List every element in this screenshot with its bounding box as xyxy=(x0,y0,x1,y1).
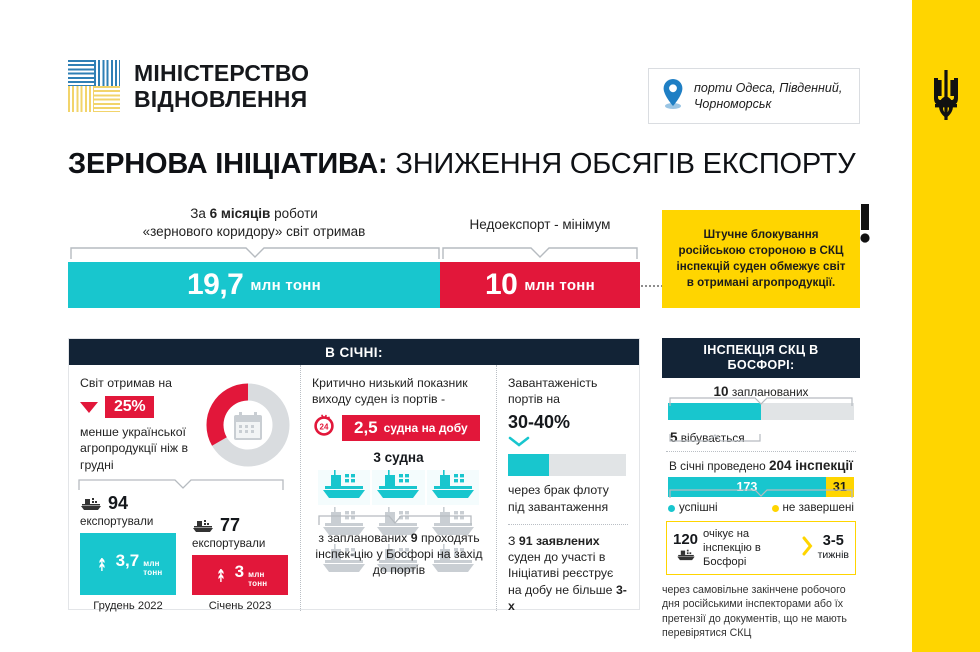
dec-month-label: Грудень 2022 xyxy=(80,600,176,612)
jan-ship-line: 77 xyxy=(192,515,288,536)
page-title: ЗЕРНОВА ІНІЦІАТИВА: ЗНИЖЕННЯ ОБСЯГІВ ЕКС… xyxy=(68,150,868,179)
rate-unit: судна на добу xyxy=(384,421,468,435)
footnote: через самовільне закінчене робочого дня … xyxy=(662,583,860,640)
ship-cell xyxy=(427,470,479,505)
month-block-january: 77 експортували 3 млнтонн Січень 2023 xyxy=(192,515,288,612)
clock-24-icon: 24 xyxy=(312,413,336,442)
ships-note-a: з запланованих xyxy=(318,531,410,545)
card-column-decline: Світ отримав на 25% менше української аг… xyxy=(69,365,301,611)
jan-exported-label: експортували xyxy=(192,537,288,550)
cap-c: роботи xyxy=(270,206,317,221)
ministry-logo-text: МІНІСТЕРСТВО ВІДНОВЛЕННЯ xyxy=(134,60,309,112)
svg-text:24: 24 xyxy=(320,423,329,432)
jan-ship-count: 77 xyxy=(220,515,240,536)
ships-note: з запланованих 9 проходять інспек-цію у … xyxy=(309,530,489,579)
decline-tail: менше української агропродукції ніж в гр… xyxy=(80,424,198,473)
declared-note: З 91 заявлених суден до участі в Ініціат… xyxy=(508,533,628,614)
ports-box: порти Одеса, Південний, Чорноморськ xyxy=(648,68,860,124)
waiting-number: 120 xyxy=(673,531,698,548)
decl-a: З xyxy=(508,534,519,548)
jcc-inspection-panel: ІНСПЕКЦІЯ СКЦ В БОСФОРІ: 10 запланованих… xyxy=(662,338,860,640)
dec-exported-label: експортували xyxy=(80,515,176,528)
cargo-ship-icon xyxy=(192,518,214,533)
dec-ship-count: 94 xyxy=(108,493,128,514)
load-track xyxy=(508,454,626,476)
alert-box: Штучне блокування російською стороною в … xyxy=(662,210,860,308)
triangle-down-icon xyxy=(80,402,98,413)
throughput-lead: Критично низький показник виходу суден і… xyxy=(312,375,485,407)
cargo-ship-icon xyxy=(80,496,102,511)
rpanel-divider xyxy=(666,451,856,452)
infographic-page: МІНІСТЕРСТВО ВІДНОВЛЕННЯ порти Одеса, Пі… xyxy=(0,0,980,652)
jcc-title-line2: БОСФОРІ: xyxy=(666,358,856,373)
jcc-panel-title: ІНСПЕКЦІЯ СКЦ В БОСФОРІ: xyxy=(662,338,860,378)
bar-received: 19,7 млн тонн xyxy=(68,262,440,308)
logo-line-2: ВІДНОВЛЕННЯ xyxy=(134,86,309,112)
ship-cell xyxy=(318,470,370,505)
page-title-bold: ЗЕРНОВА ІНІЦІАТИВА: xyxy=(68,148,388,180)
january-card: В СІЧНІ: Світ отримав на 25% менше украї… xyxy=(68,338,640,610)
rate-pill: 2,5 судна на добу xyxy=(342,415,480,441)
legend-dot-successful xyxy=(668,505,675,512)
export-bars: 19,7 млн тонн 10 млн тонн xyxy=(68,262,640,308)
bar-received-value: 19,7 xyxy=(187,268,243,302)
dec-volume-bar: 3,7 млнтонн xyxy=(80,533,176,595)
chevron-down-icon xyxy=(508,434,628,452)
logo-line-1: МІНІСТЕРСТВО xyxy=(134,60,309,86)
load-note: через брак флоту під завантаження xyxy=(508,482,628,514)
decl-b: 91 заявлених xyxy=(519,534,600,548)
load-lead: Завантаженість портів на xyxy=(508,375,628,407)
waiting-weeks: 3-5 тижнів xyxy=(818,534,849,561)
dec-volume-value: 3,7 xyxy=(116,551,140,571)
cargo-ship-icon xyxy=(321,470,367,500)
legend-dot-pending xyxy=(772,505,779,512)
weeks-number: 3-5 xyxy=(823,533,844,549)
flag-strip xyxy=(912,0,980,652)
january-card-title: В СІЧНІ: xyxy=(69,339,639,365)
left-bar-caption: За 6 місяців роботи «зернового коридору»… xyxy=(104,205,404,241)
cargo-ship-icon xyxy=(676,548,696,561)
jan-volume-bar: 3 млнтонн xyxy=(192,555,288,595)
ships-note-b: 9 xyxy=(411,531,418,545)
jan-volume-unit: млнтонн xyxy=(248,571,267,589)
ships-title: 3 судна xyxy=(312,450,485,465)
bar-shortfall-unit: млн тонн xyxy=(524,277,595,294)
calendar-icon xyxy=(234,412,262,440)
card-column-load: Завантаженість портів на 30-40% через бр… xyxy=(497,365,639,611)
wheat-ear-icon xyxy=(94,556,110,572)
map-pin-icon xyxy=(661,78,685,115)
chevron-right-icon xyxy=(802,536,813,561)
brace-ships xyxy=(318,513,472,531)
total-pre: В січні проведено xyxy=(669,459,769,473)
jcc-title-line1: ІНСПЕКЦІЯ СКЦ В xyxy=(666,343,856,358)
jan-unit-2: тонн xyxy=(248,579,267,588)
page-title-rest: ЗНИЖЕННЯ ОБСЯГІВ ЕКСПОРТУ xyxy=(388,148,856,180)
month-block-december: 94 експортували 3,7 млнтонн Грудень 2022 xyxy=(80,493,176,612)
decl-d: не більше xyxy=(555,583,616,597)
right-bar-caption: Недоекспорт - мінімум xyxy=(440,216,640,234)
waiting-text: очікує на інспекцію в Босфорі xyxy=(703,527,797,569)
ports-label: порти Одеса, Південний, Чорноморськ xyxy=(694,80,849,112)
waiting-box: 120 очікує на інспекцію в Босфорі 3-5 ти… xyxy=(666,521,856,575)
alert-text: Штучне блокування російською стороною в … xyxy=(674,227,848,290)
exclamation-mark-icon xyxy=(857,204,873,253)
dec-ship-line: 94 xyxy=(80,493,176,514)
decline-donut-chart xyxy=(202,379,294,476)
dotted-connector xyxy=(641,285,663,287)
ukraine-tryzub-icon xyxy=(926,68,966,129)
jan-unit-1: млн xyxy=(248,570,264,579)
cargo-ship-icon xyxy=(375,470,421,500)
jan-month-label: Січень 2023 xyxy=(192,600,288,612)
cap-line2: «зернового коридору» світ отримав xyxy=(104,223,404,241)
col3-divider xyxy=(508,524,628,525)
bar-shortfall: 10 млн тонн xyxy=(440,262,640,308)
cap-a: За xyxy=(190,206,209,221)
dec-unit-2: тонн xyxy=(143,568,162,577)
bar-received-unit: млн тонн xyxy=(250,277,321,294)
ministry-logo-mark xyxy=(68,60,120,112)
ship-cell xyxy=(372,470,424,505)
brace-happening xyxy=(669,428,761,446)
total-number: 204 інспекції xyxy=(769,458,853,473)
ministry-logo: МІНІСТЕРСТВО ВІДНОВЛЕННЯ xyxy=(68,60,309,112)
decline-badge: 25% xyxy=(105,396,154,418)
wheat-ear-icon xyxy=(213,567,229,583)
load-fill xyxy=(508,454,549,476)
rate-value: 2,5 xyxy=(354,418,378,438)
dec-unit-1: млн xyxy=(143,559,159,568)
bar-shortfall-value: 10 xyxy=(485,268,517,302)
load-percent: 30-40% xyxy=(508,412,628,433)
total-inspections-label: В січні проведено 204 інспекції xyxy=(662,458,860,473)
jan-volume-value: 3 xyxy=(235,562,244,582)
cargo-ship-icon xyxy=(430,470,476,500)
dec-volume-unit: млнтонн xyxy=(143,560,162,578)
card-column-throughput: Критично низький показник виходу суден і… xyxy=(301,365,497,611)
brace-total xyxy=(669,486,853,504)
brace-planned xyxy=(669,394,853,412)
weeks-unit: тижнів xyxy=(818,550,849,562)
cap-b: 6 місяців xyxy=(210,206,271,221)
waiting-count-block: 120 xyxy=(673,531,698,566)
